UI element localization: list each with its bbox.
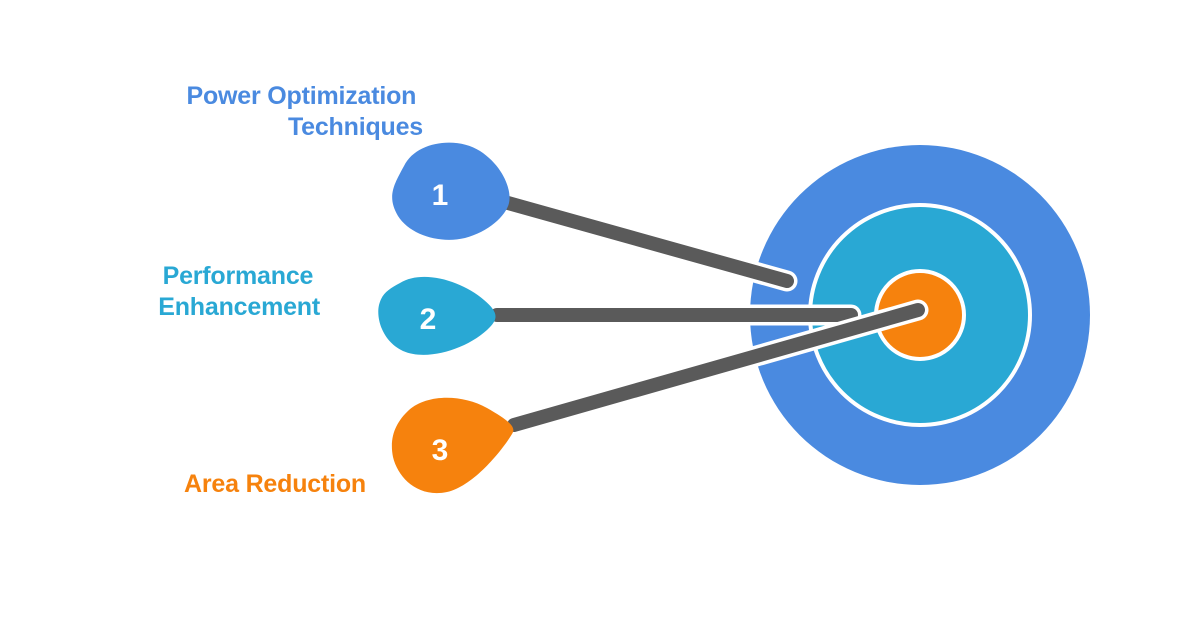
step-1-blob[interactable] xyxy=(392,143,509,240)
step-2-label: Performance Enhancement xyxy=(158,262,321,321)
step-1-group[interactable]: 1 xyxy=(392,143,509,240)
step-3-blob[interactable] xyxy=(392,398,513,493)
step-3-group[interactable]: 3 xyxy=(392,398,513,493)
step-2-label-line-1: Performance xyxy=(163,262,314,290)
target-goal-diagram: 1 Power Optimization Techniques 2 Perfor… xyxy=(0,0,1200,617)
step-1-label-line-1: Power Optimization xyxy=(187,82,417,110)
infographic-canvas: 1 Power Optimization Techniques 2 Perfor… xyxy=(0,0,1200,617)
arrow-1-shaft xyxy=(508,203,787,281)
step-1-number: 1 xyxy=(432,179,449,212)
step-3-number: 3 xyxy=(432,434,449,467)
step-3-label-line-1: Area Reduction xyxy=(184,470,366,498)
step-2-blob[interactable] xyxy=(378,277,495,355)
step-3-label: Area Reduction xyxy=(184,470,366,498)
step-2-group[interactable]: 2 xyxy=(378,277,495,355)
step-1-label: Power Optimization Techniques xyxy=(187,82,424,141)
step-1-label-line-2: Techniques xyxy=(288,113,423,141)
step-2-label-line-2: Enhancement xyxy=(158,293,321,321)
step-2-number: 2 xyxy=(420,303,437,336)
